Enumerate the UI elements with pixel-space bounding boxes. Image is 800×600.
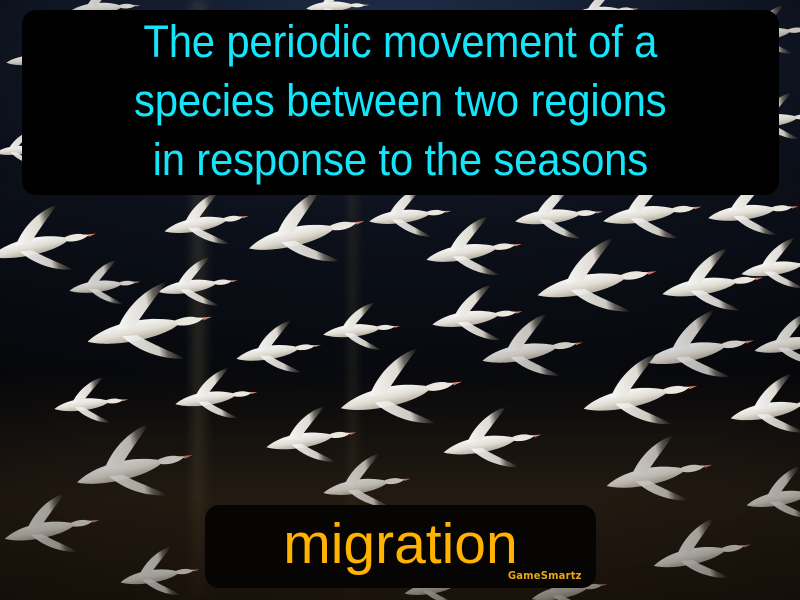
definition-line-1: The periodic movement of a [144,12,658,71]
definition-flashcard: The periodic movement of a species betwe… [0,0,800,600]
definition-line-2: species between two regions [134,71,666,130]
term-label: migration [283,513,517,575]
gamesmartz-watermark: GameSmartz [508,570,582,582]
definition-line-3: in response to the seasons [153,130,648,189]
definition-plate: The periodic movement of a species betwe… [22,10,779,195]
term-plate: migration GameSmartz [205,505,596,588]
